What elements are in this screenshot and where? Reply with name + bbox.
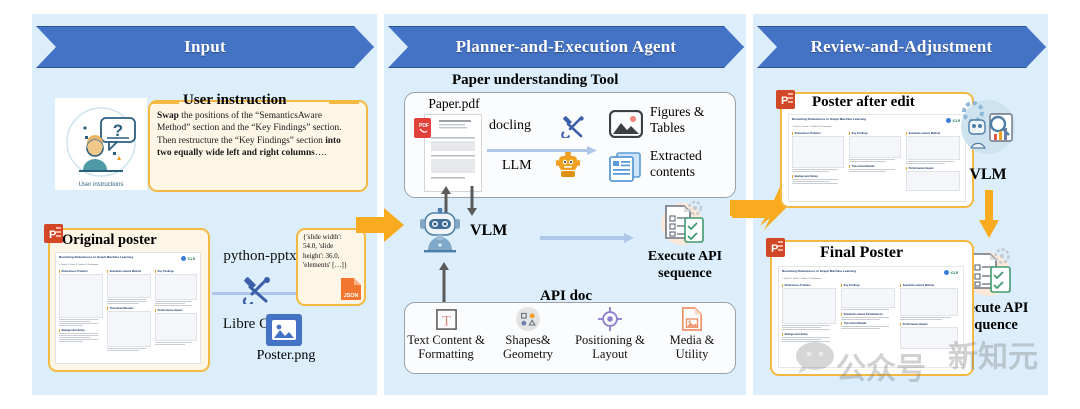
stage-banner-review: Review-and-Adjustment — [757, 26, 1046, 68]
poster-section-head: Key Findings — [841, 284, 895, 287]
venue-label: ICLR — [188, 257, 195, 261]
poster-figure — [59, 274, 103, 318]
api-item-label: Text Content & Formatting — [406, 333, 486, 361]
api-item-media-utility[interactable]: Media & Utility — [652, 306, 732, 361]
poster-title: Revisiting Robustness in Graph Machine L… — [782, 270, 892, 274]
poster-section-head: Performance Impact — [906, 167, 960, 170]
vlm-label: VLM — [470, 222, 507, 240]
poster-after-edit-thumbnail: Revisiting Robustness in Graph Machine L… — [788, 114, 966, 202]
image-frame-icon — [609, 110, 643, 138]
poster-section-head: Background Setup — [792, 175, 844, 178]
title-rule-left — [152, 101, 179, 104]
poster-section-head: Robustness Problem — [59, 270, 103, 273]
poster-section-head: Semantics-Aware Perturbations — [841, 313, 895, 316]
poster-section-head: Robustness Problem — [792, 132, 844, 135]
title-rule-right — [329, 101, 359, 104]
stage-banner-agent-label: Planner-and-Execution Agent — [456, 37, 677, 57]
robot-avatar-icon — [418, 208, 462, 254]
poster-column-2: Key Findings Semantics-Aware Perturbatio… — [841, 284, 895, 365]
figure-canvas: Input Planner-and-Execution Agent Review… — [0, 0, 1080, 409]
robot-icon — [556, 152, 580, 178]
arrow-down-from-paper-tool — [466, 186, 478, 216]
json-badge: JSON — [344, 293, 359, 299]
user-question-icon: ? — [55, 98, 147, 190]
documents-icon — [609, 152, 641, 182]
vlm-to-execute-arrow — [540, 230, 634, 240]
original-poster-title: Original poster — [62, 232, 157, 249]
final-poster-thumbnail: Revisiting Robustness in Graph Machine L… — [778, 266, 964, 368]
api-item-label: Positioning & Layout — [570, 333, 650, 361]
poster-section-head: Background Setup — [59, 329, 103, 332]
paper-pdf-label: Paper.pdf — [410, 96, 498, 112]
final-poster-title: Final Poster — [820, 244, 903, 262]
user-instruction-text: Swap the positions of the “SemanticsAwar… — [157, 110, 357, 159]
poster-column-1: Robustness Problem Background Setup — [782, 284, 836, 365]
tools-icon — [560, 116, 584, 138]
poster-authors: L. Gosch, D. Sturm, S. Geisler, S. Günne… — [792, 126, 897, 128]
poster-section-head: Key Findings — [849, 132, 901, 135]
api-item-shapes-geometry[interactable]: Shapes& Geometry — [488, 306, 568, 361]
poster-section-head: Performance Impact — [155, 309, 197, 312]
poster-section-head: Semantics-Aware Method — [107, 270, 151, 273]
svg-text:PDF: PDF — [419, 123, 429, 129]
poster-png-label: Poster.png — [238, 348, 334, 364]
execute-api-sequence-label: Execute API sequence — [630, 248, 740, 282]
stage-banner-review-label: Review-and-Adjustment — [811, 37, 993, 57]
api-item-label: Media & Utility — [652, 333, 732, 361]
stage-banner-input: Input — [36, 26, 374, 68]
paper-tool-title: Paper understanding Tool — [452, 72, 618, 89]
poster-title: Revisiting Robustness in Graph Machine L… — [792, 118, 897, 122]
poster-column-2: Key Findings Theoretical Details — [849, 132, 901, 199]
poster-section-head: Theoretical Results — [107, 307, 151, 310]
image-icon — [266, 314, 302, 346]
poster-section-head: Theoretical Details — [841, 322, 895, 325]
api-item-label: Shapes& Geometry — [488, 333, 568, 361]
arrow-input-to-agent — [356, 206, 404, 244]
poster-after-edit-title: Poster after edit — [812, 94, 915, 111]
checklist-gear-icon — [657, 198, 707, 246]
stage-banner-agent: Planner-and-Execution Agent — [388, 26, 744, 68]
poster-column-2: Semantics-Aware Method Theoretical Resul… — [107, 270, 151, 361]
poster-section-head: Theoretical Details — [849, 165, 901, 168]
shapes-icon — [488, 306, 568, 332]
poster-section-head: Semantics-Aware Method — [900, 284, 958, 287]
poster-header: Revisiting Robustness in Graph Machine L… — [59, 256, 197, 268]
figures-tables-label: Figures & Tables — [650, 104, 736, 136]
powerpoint-icon: P — [776, 90, 795, 109]
poster-column-1: Robustness Problem Background Setup — [59, 270, 103, 361]
user-instruction-title: User instruction — [183, 92, 286, 109]
poster-section-head: Semantics-Aware Method — [906, 132, 960, 135]
poster-column-3: Key Findings Performance Impact — [155, 270, 197, 361]
poster-section-head: Key Findings — [155, 270, 197, 273]
review-vlm-label: VLM — [957, 166, 1019, 184]
venue-logo: ICLR — [181, 256, 195, 261]
pdf-icon: PDF — [414, 118, 431, 138]
arrow-up-to-vlm — [438, 262, 450, 306]
api-item-positioning-layout[interactable]: Positioning & Layout — [570, 306, 650, 361]
poster-authors: L. Gosch, D. Sturm, S. Geisler, S. Günne… — [782, 278, 892, 280]
target-icon — [570, 306, 650, 332]
poster-authors: L. Gosch, D. Sturm, S. Geisler, S. Günne… — [59, 264, 145, 266]
svg-text:P: P — [781, 95, 788, 107]
svg-text:T: T — [442, 313, 451, 329]
extracted-contents-label: Extracted contents — [650, 148, 736, 180]
llm-label: LLM — [502, 158, 532, 174]
wrench-screwdriver-icon — [240, 276, 270, 304]
svg-text:P: P — [771, 243, 778, 255]
powerpoint-icon: P — [766, 238, 785, 257]
poster-title: Revisiting Robustness in Graph Machine L… — [59, 256, 145, 260]
poster-column-1: Robustness Problem Background Setup — [792, 132, 844, 199]
media-file-icon — [652, 306, 732, 332]
docling-label: docling — [489, 118, 531, 134]
poster-section-head: Robustness Problem — [782, 284, 836, 287]
poster-section-head: Background Setup — [782, 333, 836, 336]
svg-text:?: ? — [113, 121, 123, 140]
json-preview-text: {'slide width': 54.0, 'slide height': 36… — [303, 233, 351, 271]
original-poster-thumbnail: Revisiting Robustness in Graph Machine L… — [55, 252, 201, 364]
api-item-text-content[interactable]: T Text Content & Formatting — [406, 306, 486, 361]
poster-column-3: Semantics-Aware Method Performance Impac… — [906, 132, 960, 199]
poster-section-head: Performance Impact — [900, 323, 958, 326]
robot-inspect-icon — [957, 96, 1019, 158]
poster-column-3: Semantics-Aware Method Performance Impac… — [900, 284, 958, 365]
powerpoint-icon: P — [44, 224, 63, 243]
pipeline-arrow — [487, 142, 597, 151]
venue-logo: ICLR — [944, 270, 958, 275]
user-icon-caption: User instructions — [55, 182, 147, 188]
arrow-vlm-to-execute — [978, 190, 1000, 238]
pdf-page-thumbnail — [424, 114, 482, 192]
svg-text:P: P — [49, 229, 56, 241]
text-box-icon: T — [406, 306, 486, 332]
stage-banner-input-label: Input — [184, 37, 226, 57]
json-file-icon: JSON — [338, 276, 364, 302]
